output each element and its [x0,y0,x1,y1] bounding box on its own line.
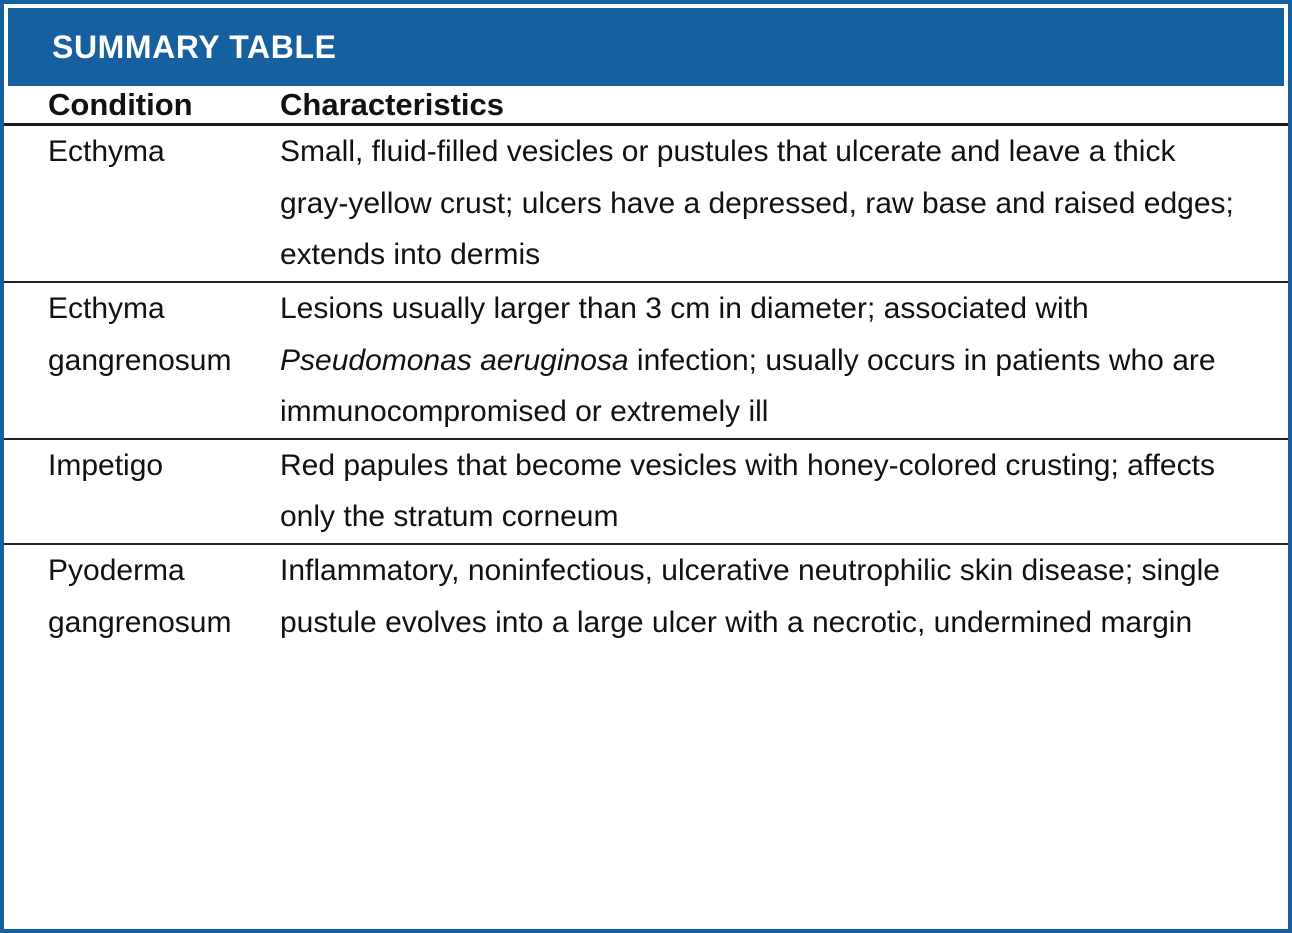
characteristics-text: Lesions usually larger than 3 cm in diam… [280,283,1288,438]
table-cell-condition: Ecthyma [4,126,280,281]
table-cell-condition: Pyoderma gangrenosum [4,545,280,648]
table-cell-characteristics: Inflammatory, noninfectious, ulcerative … [280,545,1288,648]
column-header-condition-label: Condition [4,86,280,123]
table-row: EcthymaSmall, fluid-filled vesicles or p… [4,126,1288,281]
page-title: SUMMARY TABLE [52,31,337,63]
summary-table-card: SUMMARY TABLE Condition Characteristics [0,0,1292,933]
column-header-characteristics-label: Characteristics [280,86,1288,123]
characteristics-text-part: Inflammatory, noninfectious, ulcerative … [280,554,1220,639]
characteristics-text: Red papules that become vesicles with ho… [280,440,1288,543]
characteristics-text-part: Small, fluid-filled vesicles or pustules… [280,135,1234,271]
characteristics-text-part: Red papules that become vesicles with ho… [280,449,1215,534]
characteristics-text-part: Lesions usually larger than 3 cm in diam… [280,292,1089,325]
table-cell-condition: Impetigo [4,440,280,543]
table-body: EcthymaSmall, fluid-filled vesicles or p… [4,126,1288,648]
condition-text: Pyoderma gangrenosum [4,545,280,648]
scientific-name: Pseudomonas aeruginosa [280,344,629,377]
table-cell-characteristics: Lesions usually larger than 3 cm in diam… [280,283,1288,438]
table-cell-condition: Ecthyma gangrenosum [4,283,280,438]
condition-text: Impetigo [4,440,280,492]
table-header-row: Condition Characteristics [4,86,1288,123]
column-header-condition: Condition [4,86,280,123]
table-row: Ecthyma gangrenosumLesions usually large… [4,283,1288,438]
characteristics-text: Inflammatory, noninfectious, ulcerative … [280,545,1288,648]
summary-table-banner: SUMMARY TABLE [8,8,1284,86]
table-head: Condition Characteristics [4,86,1288,126]
table-row: Pyoderma gangrenosumInflammatory, noninf… [4,545,1288,648]
summary-table: Condition Characteristics EcthymaSmall, … [4,86,1288,648]
condition-text: Ecthyma gangrenosum [4,283,280,386]
column-header-characteristics: Characteristics [280,86,1288,123]
condition-text: Ecthyma [4,126,280,178]
table-row: ImpetigoRed papules that become vesicles… [4,440,1288,543]
table-cell-characteristics: Small, fluid-filled vesicles or pustules… [280,126,1288,281]
table-cell-characteristics: Red papules that become vesicles with ho… [280,440,1288,543]
characteristics-text: Small, fluid-filled vesicles or pustules… [280,126,1288,281]
